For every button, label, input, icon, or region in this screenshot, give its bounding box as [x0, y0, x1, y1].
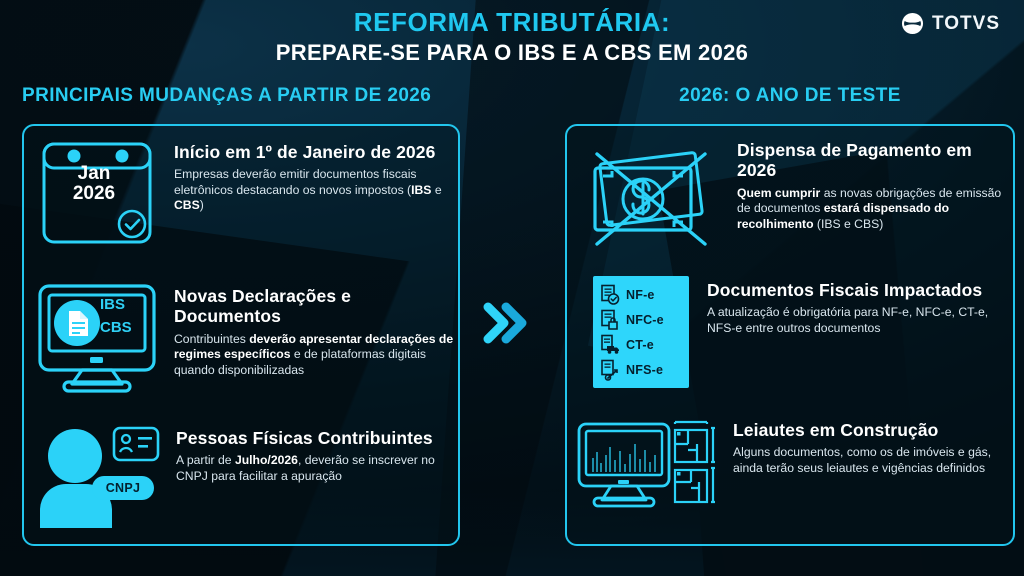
- calendar-year: 2026: [34, 184, 154, 204]
- calendar-month: Jan: [34, 164, 154, 184]
- card-novas-declaracoes: IBS CBS Novas Declarações e Documentos C…: [22, 282, 460, 394]
- totvs-logo-text: TOTVS: [932, 13, 1000, 35]
- card-body: Empresas deverão emitir documentos fisca…: [174, 167, 460, 213]
- card-leiautes-construcao: Leiautes em Construção Alguns documentos…: [565, 416, 1015, 520]
- page-title-primary: REFORMA TRIBUTÁRIA:: [0, 8, 1024, 37]
- doc-label: CT-e: [626, 338, 654, 352]
- left-column: Jan 2026 Início em 1º de Janeiro de 2026…: [22, 124, 460, 546]
- monitor-document-icon: IBS CBS: [34, 282, 160, 394]
- card-body: A atualização é obrigatória para NF-e, N…: [707, 305, 1015, 336]
- page-header: REFORMA TRIBUTÁRIA: PREPARE-SE PARA O IB…: [0, 8, 1024, 67]
- monitor-blueprint-icon: [575, 416, 715, 520]
- fiscal-documents-block: NF-e NFC-e: [593, 276, 689, 388]
- card-title: Pessoas Físicas Contribuintes: [176, 428, 460, 448]
- card-body: Quem cumprir as novas obrigações de emis…: [737, 186, 1015, 232]
- infographic-canvas: REFORMA TRIBUTÁRIA: PREPARE-SE PARA O IB…: [0, 0, 1024, 576]
- document-check-icon: [599, 284, 621, 306]
- person-id-icon: CNPJ: [30, 424, 162, 528]
- monitor-label-ibs: IBS: [100, 294, 132, 317]
- doc-label: NFC-e: [626, 313, 664, 327]
- page-title-secondary: PREPARE-SE PARA O IBS E A CBS EM 2026: [0, 40, 1024, 66]
- doc-row-nfe: NF-e: [599, 282, 683, 307]
- card-text-group: Documentos Fiscais Impactados A atualiza…: [689, 276, 1015, 336]
- doc-label: NF-e: [626, 288, 655, 302]
- totvs-logo: TOTVS: [901, 12, 1000, 35]
- section-heading-left: PRINCIPAIS MUDANÇAS A PARTIR DE 2026: [22, 85, 431, 107]
- card-text-group: Pessoas Físicas Contribuintes A partir d…: [162, 424, 460, 484]
- card-dispensa-pagamento: Dispensa de Pagamento em 2026 Quem cumpr…: [565, 136, 1015, 256]
- cnpj-badge: CNPJ: [92, 476, 154, 500]
- card-title: Novas Declarações e Documentos: [174, 286, 460, 327]
- right-column: Dispensa de Pagamento em 2026 Quem cumpr…: [565, 124, 1015, 546]
- doc-label: NFS-e: [626, 363, 663, 377]
- money-crossed-out-icon: [579, 136, 719, 256]
- card-pessoas-fisicas: CNPJ Pessoas Físicas Contribuintes A par…: [22, 424, 460, 528]
- monitor-labels: IBS CBS: [100, 294, 132, 339]
- card-body: Alguns documentos, como os de imóveis e …: [733, 445, 1015, 476]
- doc-row-cte: CT-e: [599, 332, 683, 357]
- document-truck-icon: [599, 334, 621, 356]
- double-chevron-right-icon: [478, 295, 534, 351]
- card-inicio-janeiro: Jan 2026 Início em 1º de Janeiro de 2026…: [22, 138, 460, 248]
- calendar-date-text: Jan 2026: [34, 164, 154, 204]
- section-heading-right: 2026: O ANO DE TESTE: [565, 85, 1015, 107]
- card-text-group: Leiautes em Construção Alguns documentos…: [715, 416, 1015, 476]
- card-title: Documentos Fiscais Impactados: [707, 280, 1015, 300]
- totvs-mark-icon: [901, 12, 924, 35]
- calendar-icon: Jan 2026: [34, 138, 160, 248]
- doc-row-nfce: NFC-e: [599, 307, 683, 332]
- card-body: A partir de Julho/2026, deverão se inscr…: [176, 453, 460, 484]
- document-bag-icon: [599, 309, 621, 331]
- card-text-group: Dispensa de Pagamento em 2026 Quem cumpr…: [719, 136, 1015, 232]
- card-body: Contribuintes deverão apresentar declara…: [174, 332, 460, 378]
- card-text-group: Início em 1º de Janeiro de 2026 Empresas…: [160, 138, 460, 214]
- card-title: Dispensa de Pagamento em 2026: [737, 140, 1015, 181]
- fiscal-documents-icon: NF-e NFC-e: [593, 276, 689, 388]
- monitor-label-cbs: CBS: [100, 317, 132, 340]
- doc-row-nfse: NFS-e: [599, 357, 683, 382]
- card-documentos-fiscais: NF-e NFC-e: [565, 276, 1015, 388]
- card-text-group: Novas Declarações e Documentos Contribui…: [160, 282, 460, 378]
- card-title: Início em 1º de Janeiro de 2026: [174, 142, 460, 162]
- document-tools-icon: [599, 359, 621, 381]
- card-title: Leiautes em Construção: [733, 420, 1015, 440]
